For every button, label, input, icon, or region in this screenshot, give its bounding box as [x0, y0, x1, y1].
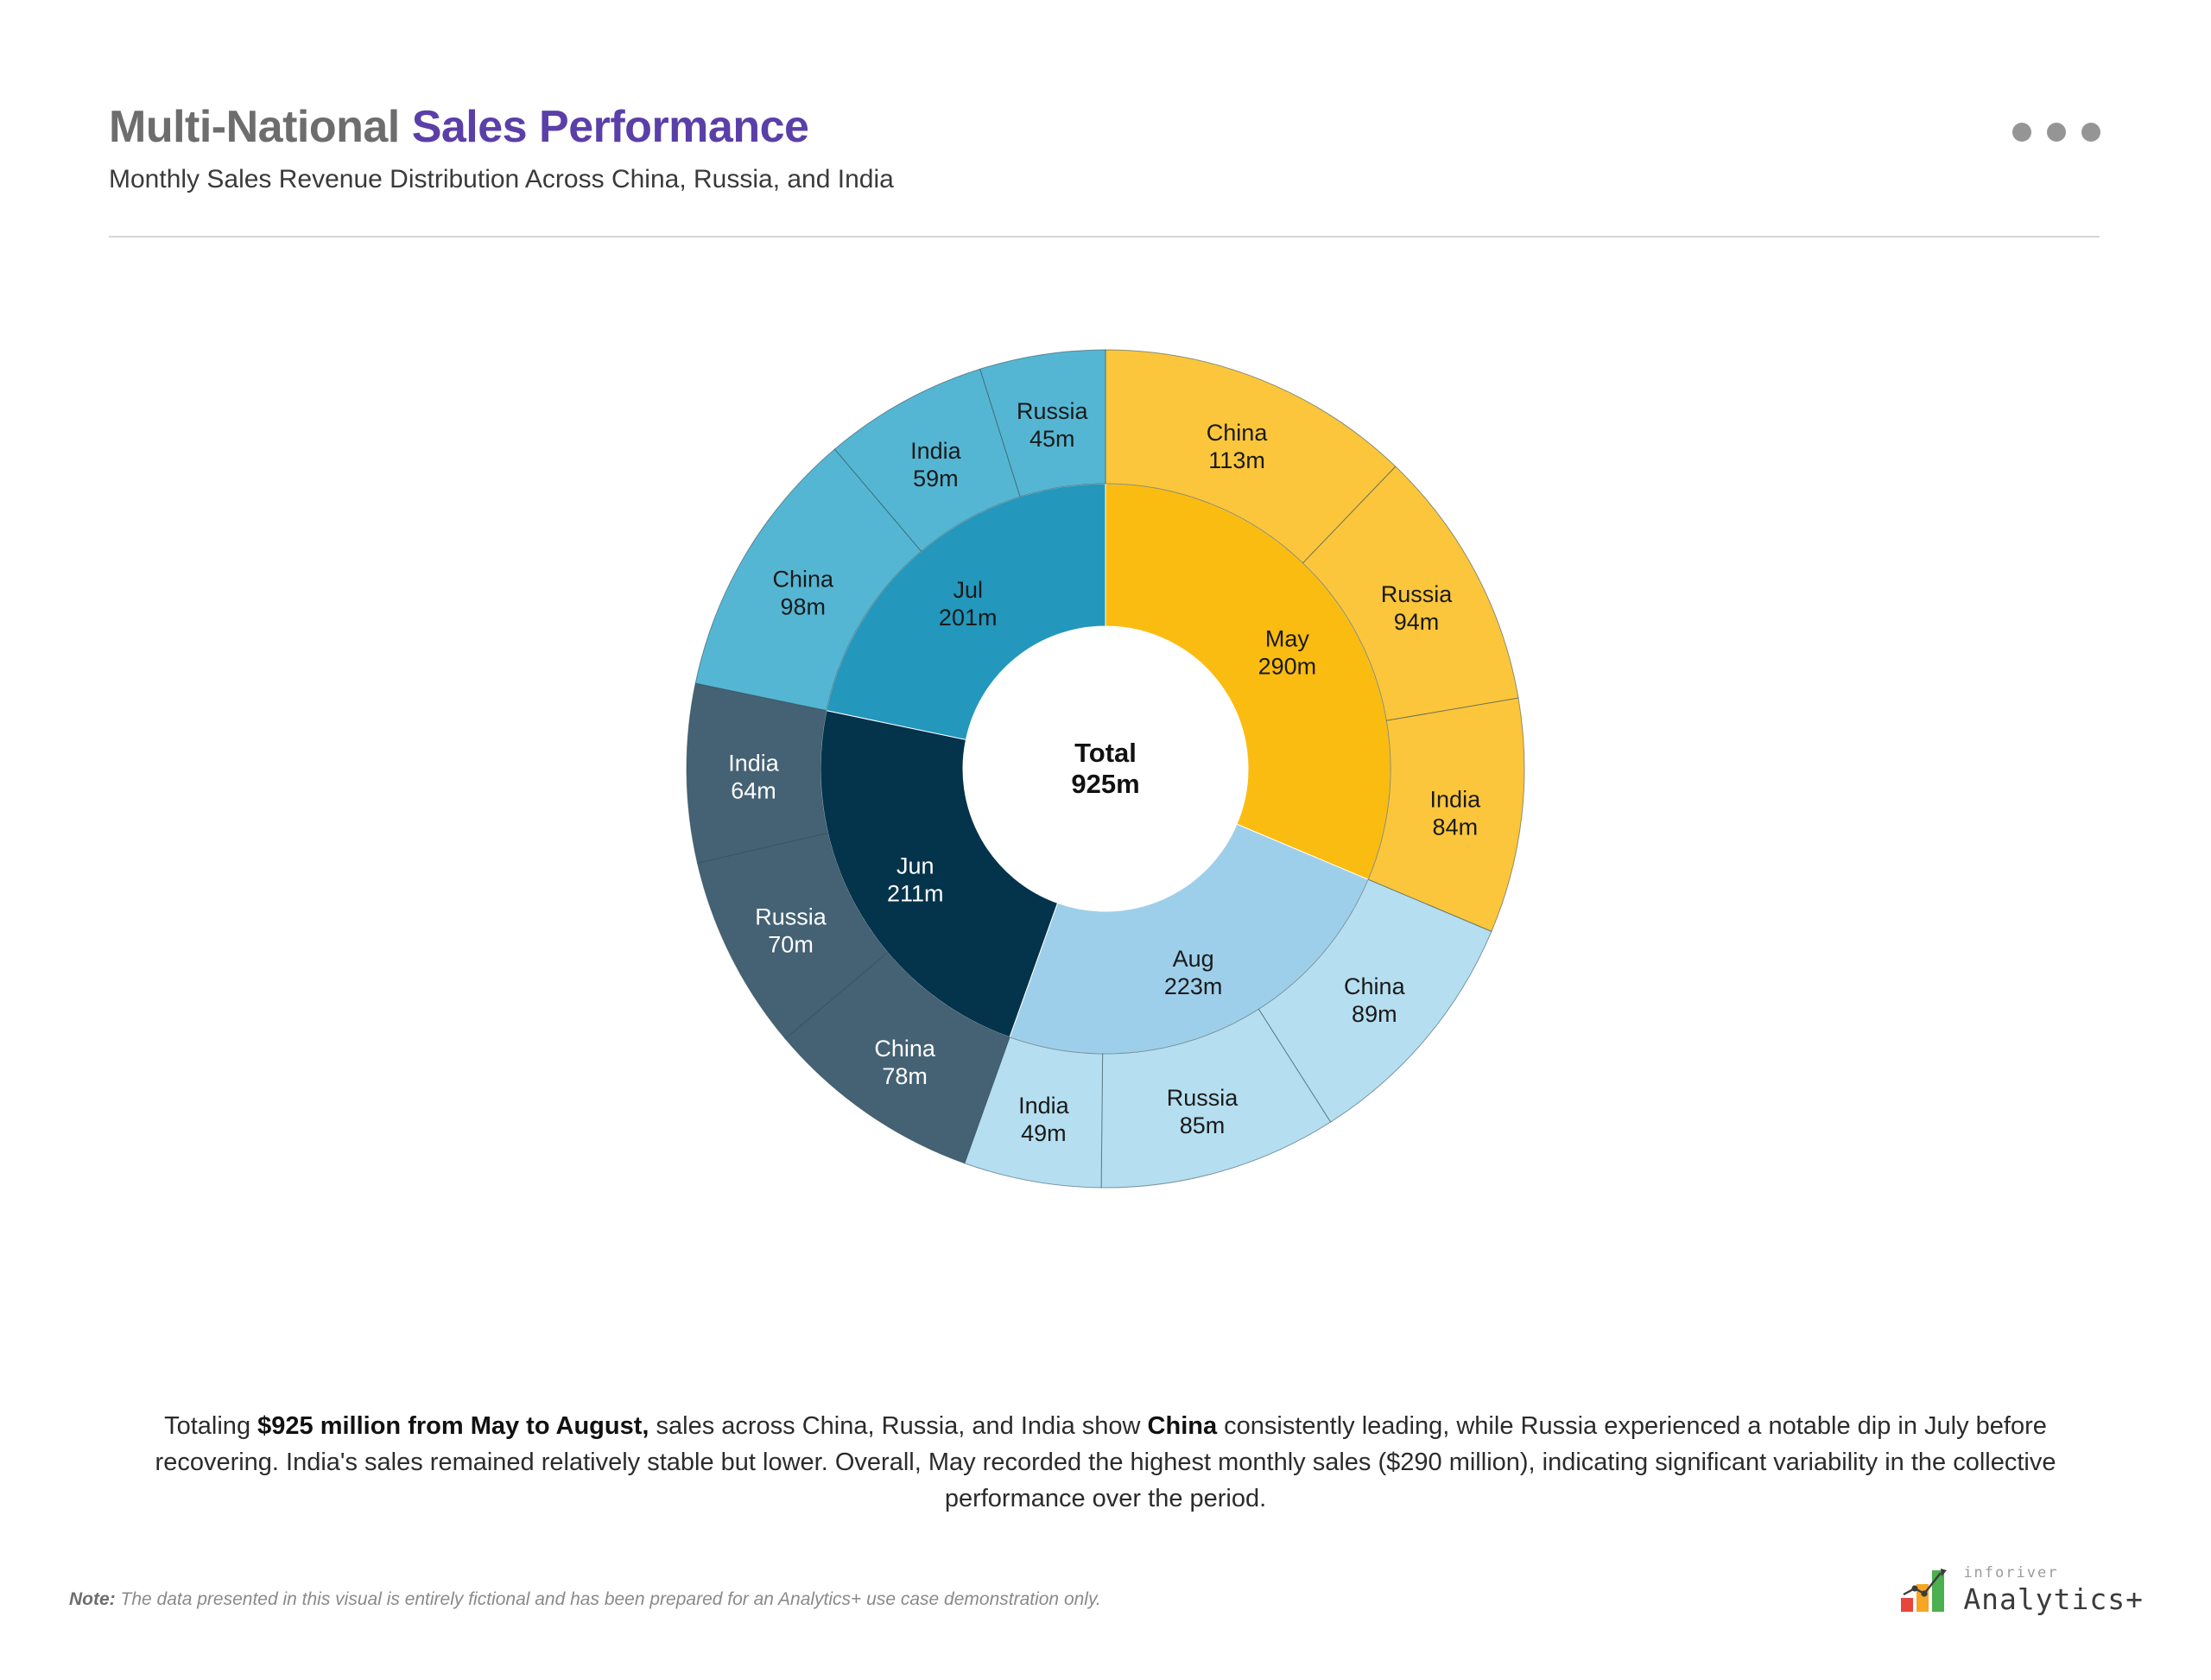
page-title: Multi-National Sales Performance: [109, 104, 2102, 151]
inforiver-logo-icon: [1899, 1565, 1953, 1613]
sunburst-svg: China113mRussia94mIndia84mMay290mChina89…: [630, 259, 1581, 1278]
ellipsis-dot-2: [2047, 123, 2066, 142]
narrative-seg1: Totaling: [164, 1412, 257, 1440]
center-total-label: Total925m: [1071, 738, 1139, 799]
ellipsis-dot-1: [2012, 123, 2031, 142]
page-title-part2: Sales Performance: [412, 102, 809, 152]
footnote: Note: The data presented in this visual …: [69, 1589, 1101, 1610]
header-divider: [109, 236, 2100, 238]
inforiver-logo: inforiver Analytics+: [1899, 1565, 2144, 1613]
logo-brand-bottom: Analytics+: [1963, 1585, 2144, 1613]
narrative-seg2: sales across China, Russia, and India sh…: [649, 1412, 1147, 1440]
logo-brand-top: inforiver: [1963, 1566, 2144, 1581]
narrative-bold2: China: [1148, 1412, 1218, 1440]
page-subtitle: Monthly Sales Revenue Distribution Acros…: [109, 165, 2102, 194]
ellipsis-icon[interactable]: [2012, 123, 2100, 142]
ellipsis-dot-3: [2081, 123, 2100, 142]
page-title-part1: Multi-National: [109, 102, 412, 152]
inforiver-logo-text: inforiver Analytics+: [1963, 1566, 2144, 1613]
sunburst-report-page: Multi-National Sales Performance Monthly…: [0, 0, 2211, 1680]
logo-bars-icon: [1899, 1565, 1953, 1613]
report-header: Multi-National Sales Performance Monthly…: [109, 104, 2102, 194]
sunburst-chart: China113mRussia94mIndia84mMay290mChina89…: [0, 259, 2211, 1296]
footnote-label: Note:: [69, 1589, 116, 1609]
narrative-text: Totaling $925 million from May to August…: [130, 1408, 2081, 1517]
footnote-text: The data presented in this visual is ent…: [116, 1589, 1101, 1609]
narrative-bold1: $925 million from May to August,: [257, 1412, 649, 1440]
